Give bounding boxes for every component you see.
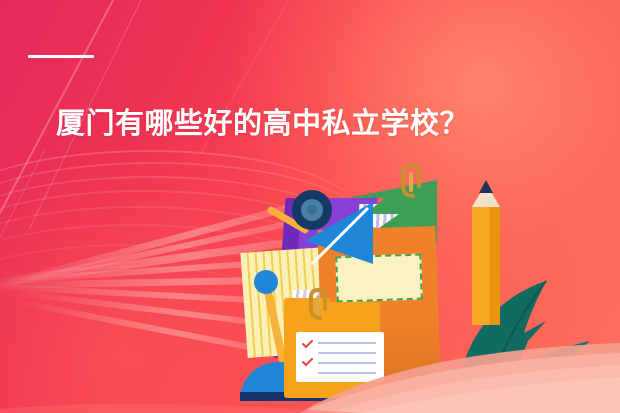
title-divider-rule (28, 55, 94, 58)
promo-banner: 厦门有哪些好的高中私立学校？ (0, 0, 620, 413)
paperclip-icon (400, 164, 426, 198)
page-title: 厦门有哪些好的高中私立学校？ (56, 108, 469, 140)
lamp-hinge-core (307, 205, 317, 215)
bottom-wave-decoration (0, 313, 620, 413)
pencil-graphite-tip (479, 180, 493, 193)
pencil-body-shadow (490, 205, 500, 325)
lamp-joint (254, 270, 278, 294)
